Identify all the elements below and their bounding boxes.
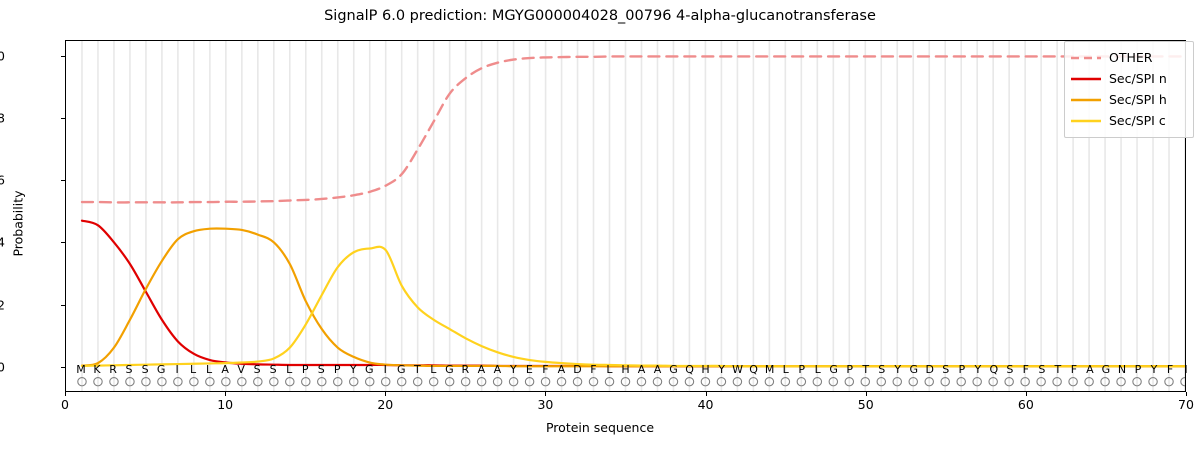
legend-item-label: Sec/SPI c <box>1109 113 1166 128</box>
x-tick-label: 50 <box>858 397 874 412</box>
sequence-residue: R <box>462 364 470 375</box>
sequence-residue: Q <box>685 364 694 375</box>
x-tick-label: 70 <box>1178 397 1194 412</box>
y-tick-mark <box>61 242 65 243</box>
y-tick-mark <box>61 305 65 306</box>
sequence-residue: M <box>76 364 86 375</box>
sequence-residue: S <box>126 364 133 375</box>
sequence-residue: P <box>798 364 805 375</box>
sequence-residue: M <box>765 364 775 375</box>
x-tick-mark <box>1026 392 1027 396</box>
sequence-residue: S <box>142 364 149 375</box>
sequence-residue: W <box>732 364 743 375</box>
legend-item-label: Sec/SPI n <box>1109 71 1167 86</box>
sequence-residue: H <box>701 364 709 375</box>
sequence-residue: S <box>1006 364 1013 375</box>
sequence-residue: A <box>478 364 486 375</box>
x-tick-label: 30 <box>537 397 553 412</box>
sequence-residue: L <box>430 364 436 375</box>
legend-item-label: Sec/SPI h <box>1109 92 1167 107</box>
sequence-residue: Y <box>350 364 357 375</box>
sequence-residue: G <box>909 364 918 375</box>
legend-item-label: OTHER <box>1109 50 1152 65</box>
sequence-residue: S <box>942 364 949 375</box>
sequence-residue: I <box>175 364 178 375</box>
sequence-residue: S <box>270 364 277 375</box>
y-tick-label: 1.0 <box>0 48 5 63</box>
series-line-sec-spi-n <box>82 221 1185 367</box>
sequence-residue: P <box>1135 364 1142 375</box>
x-tick-label: 0 <box>61 397 69 412</box>
plot-canvas <box>66 41 1185 391</box>
x-tick-label: 40 <box>698 397 714 412</box>
x-tick-mark <box>1186 392 1187 396</box>
x-tick-mark <box>385 392 386 396</box>
sequence-residue: S <box>1038 364 1045 375</box>
sequence-residue: G <box>669 364 678 375</box>
sequence-residue: G <box>445 364 454 375</box>
y-tick-mark <box>61 56 65 57</box>
sequence-residue: G <box>829 364 838 375</box>
chart-legend: OTHERSec/SPI nSec/SPI hSec/SPI c <box>1064 41 1194 138</box>
sequence-residue: I <box>1184 364 1187 375</box>
sequence-residue: E <box>526 364 533 375</box>
sequence-residue: T <box>862 364 869 375</box>
sequence-residue: P <box>334 364 341 375</box>
sequence-residue: V <box>237 364 245 375</box>
x-tick-mark <box>65 392 66 396</box>
sequence-residue: G <box>157 364 166 375</box>
sequence-residue: S <box>318 364 325 375</box>
sequence-residue: Y <box>974 364 981 375</box>
legend-line-swatch <box>1071 52 1101 64</box>
y-tick-mark <box>61 118 65 119</box>
sequence-residue: F <box>1023 364 1029 375</box>
sequence-residue: L <box>783 364 789 375</box>
y-tick-label: 0.8 <box>0 110 5 125</box>
sequence-residue: A <box>638 364 646 375</box>
sequence-residue: L <box>606 364 612 375</box>
legend-line-swatch <box>1071 115 1101 127</box>
sequence-residue: L <box>286 364 292 375</box>
y-tick-mark <box>61 367 65 368</box>
sequence-residue: S <box>254 364 261 375</box>
plot-area <box>65 40 1186 392</box>
sequence-residue: N <box>1118 364 1126 375</box>
sequence-residue: L <box>190 364 196 375</box>
legend-item-other[interactable]: OTHER <box>1071 47 1187 68</box>
sequence-residue: G <box>397 364 406 375</box>
y-tick-label: 0.6 <box>0 173 5 188</box>
x-tick-mark <box>866 392 867 396</box>
x-tick-mark <box>225 392 226 396</box>
signalp-prediction-figure: SignalP 6.0 prediction: MGYG000004028_00… <box>0 0 1200 450</box>
series-line-sec-spi-c <box>82 247 1185 366</box>
sequence-residue: Y <box>510 364 517 375</box>
sequence-residue: G <box>365 364 374 375</box>
residue-markers <box>78 378 1185 386</box>
sequence-residue: L <box>206 364 212 375</box>
x-axis-label: Protein sequence <box>0 420 1200 435</box>
series-line-sec-spi-h <box>82 228 1185 366</box>
legend-item-sec-spi-c[interactable]: Sec/SPI c <box>1071 110 1187 131</box>
sequence-residue: A <box>494 364 502 375</box>
sequence-residue: F <box>542 364 548 375</box>
sequence-residue: L <box>815 364 821 375</box>
series-line-other <box>82 56 1185 202</box>
sequence-residue: T <box>1055 364 1062 375</box>
sequence-residue: A <box>1086 364 1094 375</box>
sequence-residue: S <box>878 364 885 375</box>
sequence-residue: D <box>926 364 934 375</box>
sequence-residue: T <box>414 364 421 375</box>
sequence-residue: F <box>590 364 596 375</box>
sequence-residue: P <box>302 364 309 375</box>
sequence-residue: P <box>958 364 965 375</box>
sequence-residue: G <box>1102 364 1111 375</box>
sequence-residue: F <box>1071 364 1077 375</box>
sequence-residue: Y <box>894 364 901 375</box>
sequence-residue: Q <box>989 364 998 375</box>
legend-line-swatch <box>1071 94 1101 106</box>
y-tick-label: 0.4 <box>0 235 5 250</box>
sequence-residue: K <box>93 364 100 375</box>
sequence-residue: I <box>384 364 387 375</box>
chart-title: SignalP 6.0 prediction: MGYG000004028_00… <box>0 8 1200 24</box>
sequence-residue: Q <box>749 364 758 375</box>
sequence-residue: D <box>573 364 581 375</box>
x-tick-label: 60 <box>1018 397 1034 412</box>
sequence-residue: Y <box>718 364 725 375</box>
x-tick-mark <box>706 392 707 396</box>
sequence-residue: A <box>221 364 229 375</box>
sequence-residue: R <box>109 364 117 375</box>
sequence-residue: A <box>654 364 662 375</box>
y-tick-mark <box>61 180 65 181</box>
y-axis-label: Probability <box>11 144 26 304</box>
x-tick-label: 20 <box>377 397 393 412</box>
legend-line-swatch <box>1071 73 1101 85</box>
sequence-residue: A <box>558 364 566 375</box>
y-tick-label: 0.2 <box>0 297 5 312</box>
sequence-residue: H <box>621 364 629 375</box>
sequence-residue: F <box>1167 364 1173 375</box>
legend-item-sec-spi-h[interactable]: Sec/SPI h <box>1071 89 1187 110</box>
x-tick-mark <box>545 392 546 396</box>
vertical-gridlines <box>82 41 1185 391</box>
sequence-residue: Y <box>1151 364 1158 375</box>
y-tick-label: 0.0 <box>0 360 5 375</box>
x-tick-label: 10 <box>217 397 233 412</box>
legend-item-sec-spi-n[interactable]: Sec/SPI n <box>1071 68 1187 89</box>
sequence-residue: P <box>846 364 853 375</box>
